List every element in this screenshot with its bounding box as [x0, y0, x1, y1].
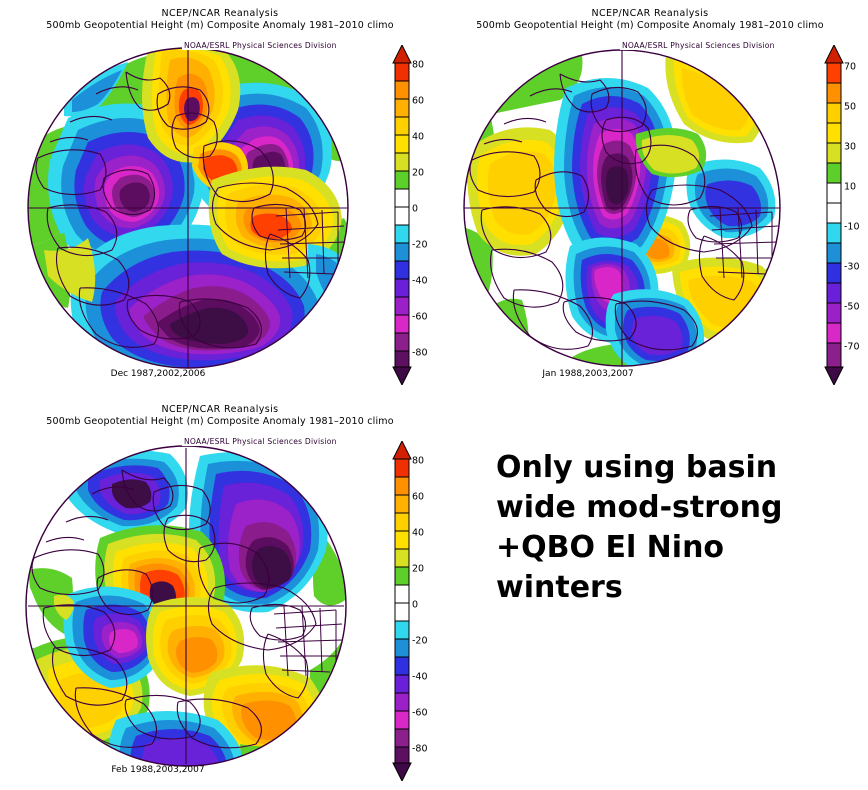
panel-feb-caption: Feb 1988,2003,2007 [0, 765, 378, 775]
panel-dec-map [8, 38, 378, 378]
panel-feb-cbar-tick-8: -80 [412, 744, 428, 755]
panel-dec-cbar-tick-2: 40 [412, 132, 424, 143]
panel-jan-cbar-tick-6: -50 [844, 302, 860, 313]
panel-jan-colorbar: 70 50 30 10 -10 -30 -50 -70 [824, 45, 848, 385]
annotation-line-2: wide mod-strong [496, 488, 856, 528]
panel-feb-cbar-tick-6: -40 [412, 672, 428, 683]
panel-dec-subtitle: 500mb Geopotential Height (m) Composite … [0, 20, 440, 32]
panel-jan-cbar-tick-5: -30 [844, 262, 860, 273]
panel-feb-colorbar: 80 60 40 20 0 -20 -40 -60 -80 [392, 441, 416, 781]
panel-jan-colorbar-svg [824, 45, 848, 385]
panel-dec-header: NCEP/NCAR Reanalysis 500mb Geopotential … [0, 0, 440, 32]
panel-feb-credit: NOAA/ESRL Physical Sciences Division [182, 437, 339, 446]
panel-dec-cbar-tick-6: -40 [412, 276, 428, 287]
panel-feb-map-svg [4, 434, 374, 774]
panel-feb-cbar-tick-5: -20 [412, 636, 428, 647]
panel-jan: NCEP/NCAR Reanalysis 500mb Geopotential … [432, 0, 868, 395]
panel-jan-cbar-tick-0: 70 [844, 62, 856, 73]
panel-feb: NCEP/NCAR Reanalysis 500mb Geopotential … [0, 396, 440, 790]
panel-feb-cbar-tick-2: 40 [412, 528, 424, 539]
panel-dec-cbar-tick-3: 20 [412, 168, 424, 179]
panel-feb-cbar-tick-4: 0 [412, 600, 418, 611]
panel-jan-credit: NOAA/ESRL Physical Sciences Division [620, 41, 777, 50]
panel-dec-map-svg [8, 38, 378, 378]
panel-dec-credit: NOAA/ESRL Physical Sciences Division [182, 41, 339, 50]
panel-jan-map [440, 38, 810, 378]
panel-feb-title: NCEP/NCAR Reanalysis [0, 404, 440, 416]
panel-jan-title: NCEP/NCAR Reanalysis [432, 8, 868, 20]
panel-dec-colorbar: 80 60 40 20 0 -20 -40 -60 -80 [392, 45, 416, 385]
panel-feb-cbar-tick-1: 60 [412, 492, 424, 503]
panel-dec-cbar-tick-1: 60 [412, 96, 424, 107]
panel-feb-cbar-tick-7: -60 [412, 708, 428, 719]
panel-feb-cbar-tick-3: 20 [412, 564, 424, 575]
panel-dec-caption: Dec 1987,2002,2006 [0, 369, 378, 379]
panel-dec-title: NCEP/NCAR Reanalysis [0, 8, 440, 20]
panel-jan-map-svg [440, 38, 810, 378]
panel-feb-cbar-tick-0: 80 [412, 456, 424, 467]
panel-jan-header: NCEP/NCAR Reanalysis 500mb Geopotential … [432, 0, 868, 32]
panel-jan-cbar-tick-7: -70 [844, 342, 860, 353]
panel-feb-map [4, 434, 374, 774]
annotation-line-4: winters [496, 568, 856, 608]
panel-dec-cbar-tick-7: -60 [412, 312, 428, 323]
annotation-line-1: Only using basin [496, 448, 856, 488]
panel-jan-cbar-tick-1: 50 [844, 102, 856, 113]
panel-dec-cbar-tick-0: 80 [412, 60, 424, 71]
panel-jan-subtitle: 500mb Geopotential Height (m) Composite … [432, 20, 868, 32]
panel-dec-cbar-tick-5: -20 [412, 240, 428, 251]
panel-dec: NCEP/NCAR Reanalysis 500mb Geopotential … [0, 0, 440, 395]
panel-jan-cbar-tick-3: 10 [844, 182, 856, 193]
panel-dec-cbar-tick-8: -80 [412, 348, 428, 359]
annotation-text: Only using basin wide mod-strong +QBO El… [496, 448, 856, 608]
panel-jan-cbar-tick-2: 30 [844, 142, 856, 153]
panel-feb-subtitle: 500mb Geopotential Height (m) Composite … [0, 416, 440, 428]
panel-jan-caption: Jan 1988,2003,2007 [370, 369, 806, 379]
panel-feb-header: NCEP/NCAR Reanalysis 500mb Geopotential … [0, 396, 440, 428]
panel-jan-cbar-tick-4: -10 [844, 222, 860, 233]
annotation-line-3: +QBO El Nino [496, 528, 856, 568]
panel-dec-cbar-tick-4: 0 [412, 204, 418, 215]
